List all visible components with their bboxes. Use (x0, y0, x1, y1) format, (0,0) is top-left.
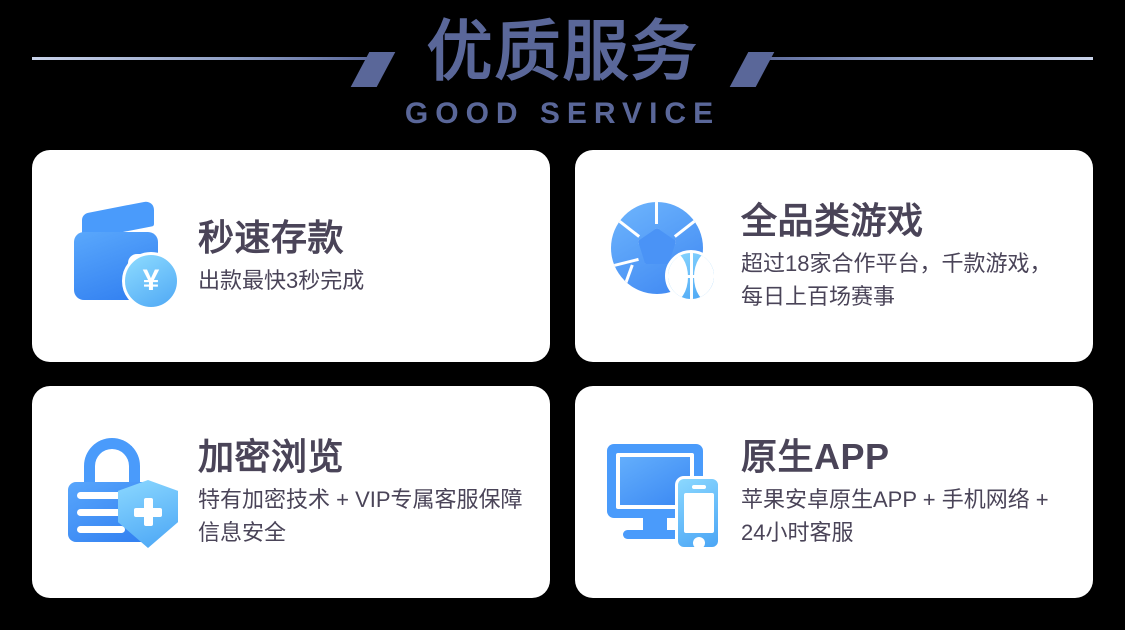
feature-card-title: 全品类游戏 (741, 199, 1071, 243)
feature-card-encryption[interactable]: 加密浏览 特有加密技术 + VIP专属客服保障信息安全 (32, 386, 550, 598)
phone-home-button-shape (693, 537, 705, 549)
basketball-icon (665, 250, 717, 302)
feature-card-title: 秒速存款 (198, 216, 528, 260)
feature-card-title: 原生APP (741, 435, 1071, 479)
feature-card-text: 秒速存款 出款最快3秒完成 (198, 216, 528, 297)
feature-card-title: 加密浏览 (198, 435, 528, 479)
feature-card-desc: 出款最快3秒完成 (198, 264, 528, 297)
smartphone-icon (675, 476, 721, 550)
feature-card-native-app[interactable]: 原生APP 苹果安卓原生APP + 手机网络 + 24小时客服 (575, 386, 1093, 598)
feature-card-text: 加密浏览 特有加密技术 + VIP专属客服保障信息安全 (198, 435, 528, 549)
lock-shield-icon (60, 432, 186, 552)
wallet-yen-icon: ¥ (60, 196, 186, 316)
feature-card-text: 全品类游戏 超过18家合作平台，千款游戏，每日上百场赛事 (741, 199, 1071, 313)
feature-card-desc: 超过18家合作平台，千款游戏，每日上百场赛事 (741, 247, 1071, 313)
feature-card-games[interactable]: 全品类游戏 超过18家合作平台，千款游戏，每日上百场赛事 (575, 150, 1093, 362)
page-subtitle: GOOD SERVICE (0, 97, 1125, 131)
feature-card-desc: 特有加密技术 + VIP专属客服保障信息安全 (198, 483, 528, 549)
feature-card-text: 原生APP 苹果安卓原生APP + 手机网络 + 24小时客服 (741, 435, 1071, 549)
soccer-basketball-icon (603, 196, 729, 316)
page-header: 优质服务 GOOD SERVICE (0, 0, 1125, 145)
feature-card-desc: 苹果安卓原生APP + 手机网络 + 24小时客服 (741, 483, 1071, 549)
page-title: 优质服务 (0, 12, 1125, 90)
phone-screen-shape (684, 493, 714, 533)
feature-card-grid: ¥ 秒速存款 出款最快3秒完成 全品类游戏 超过18家合作平 (32, 150, 1093, 598)
feature-card-deposit[interactable]: ¥ 秒速存款 出款最快3秒完成 (32, 150, 550, 362)
promo-page: 优质服务 GOOD SERVICE ¥ 秒速存款 出款最快3秒完成 (0, 0, 1125, 630)
phone-speaker-shape (692, 485, 706, 489)
yen-coin-icon: ¥ (122, 252, 180, 310)
monitor-phone-icon (603, 432, 729, 552)
